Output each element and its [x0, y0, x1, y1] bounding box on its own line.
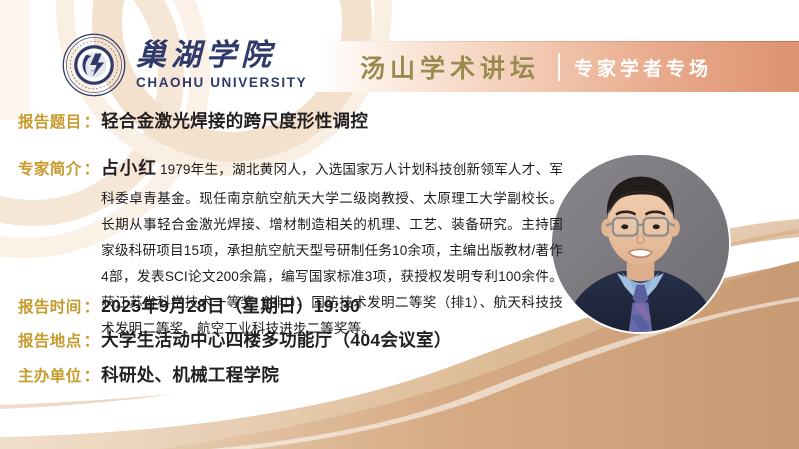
report-place-colon: ： — [82, 329, 102, 351]
speaker-bio-colon: ： — [82, 157, 102, 179]
report-time-row: 报告时间 ： 2025年9月28日（星期日）19:30 — [18, 293, 360, 318]
speaker-name: 占小红 — [101, 158, 157, 178]
report-time-colon: ： — [82, 295, 102, 317]
report-time-label: 报告时间 — [18, 295, 82, 317]
poster-content: 报告题目 ： 轻合金激光焊接的跨尺度形性调控 专家简介 ： 占小红1979年生，… — [0, 0, 799, 449]
report-place-row: 报告地点 ： 大学生活动中心四楼多功能厅（404会议室） — [18, 327, 452, 352]
report-title-value: 轻合金激光焊接的跨尺度形性调控 — [101, 108, 368, 133]
report-place-label: 报告地点 — [18, 329, 82, 351]
report-title-row: 报告题目 ： 轻合金激光焊接的跨尺度形性调控 — [18, 108, 368, 133]
report-time-value: 2025年9月28日（星期日）19:30 — [101, 293, 360, 318]
speaker-bio-label: 专家简介 — [18, 157, 82, 179]
organizer-value: 科研处、机械工程学院 — [101, 362, 279, 387]
organizer-label: 主办单位 — [18, 364, 82, 386]
report-title-label: 报告题目 — [18, 110, 82, 132]
report-title-colon: ： — [82, 110, 102, 132]
organizer-row: 主办单位 ： 科研处、机械工程学院 — [18, 362, 279, 387]
report-place-value: 大学生活动中心四楼多功能厅（404会议室） — [101, 327, 452, 352]
organizer-colon: ： — [82, 364, 102, 386]
seminar-poster: 1977 巢湖学院 CHAOHU UNIVERSITY 汤山学术讲坛 专家学者专… — [0, 0, 799, 449]
